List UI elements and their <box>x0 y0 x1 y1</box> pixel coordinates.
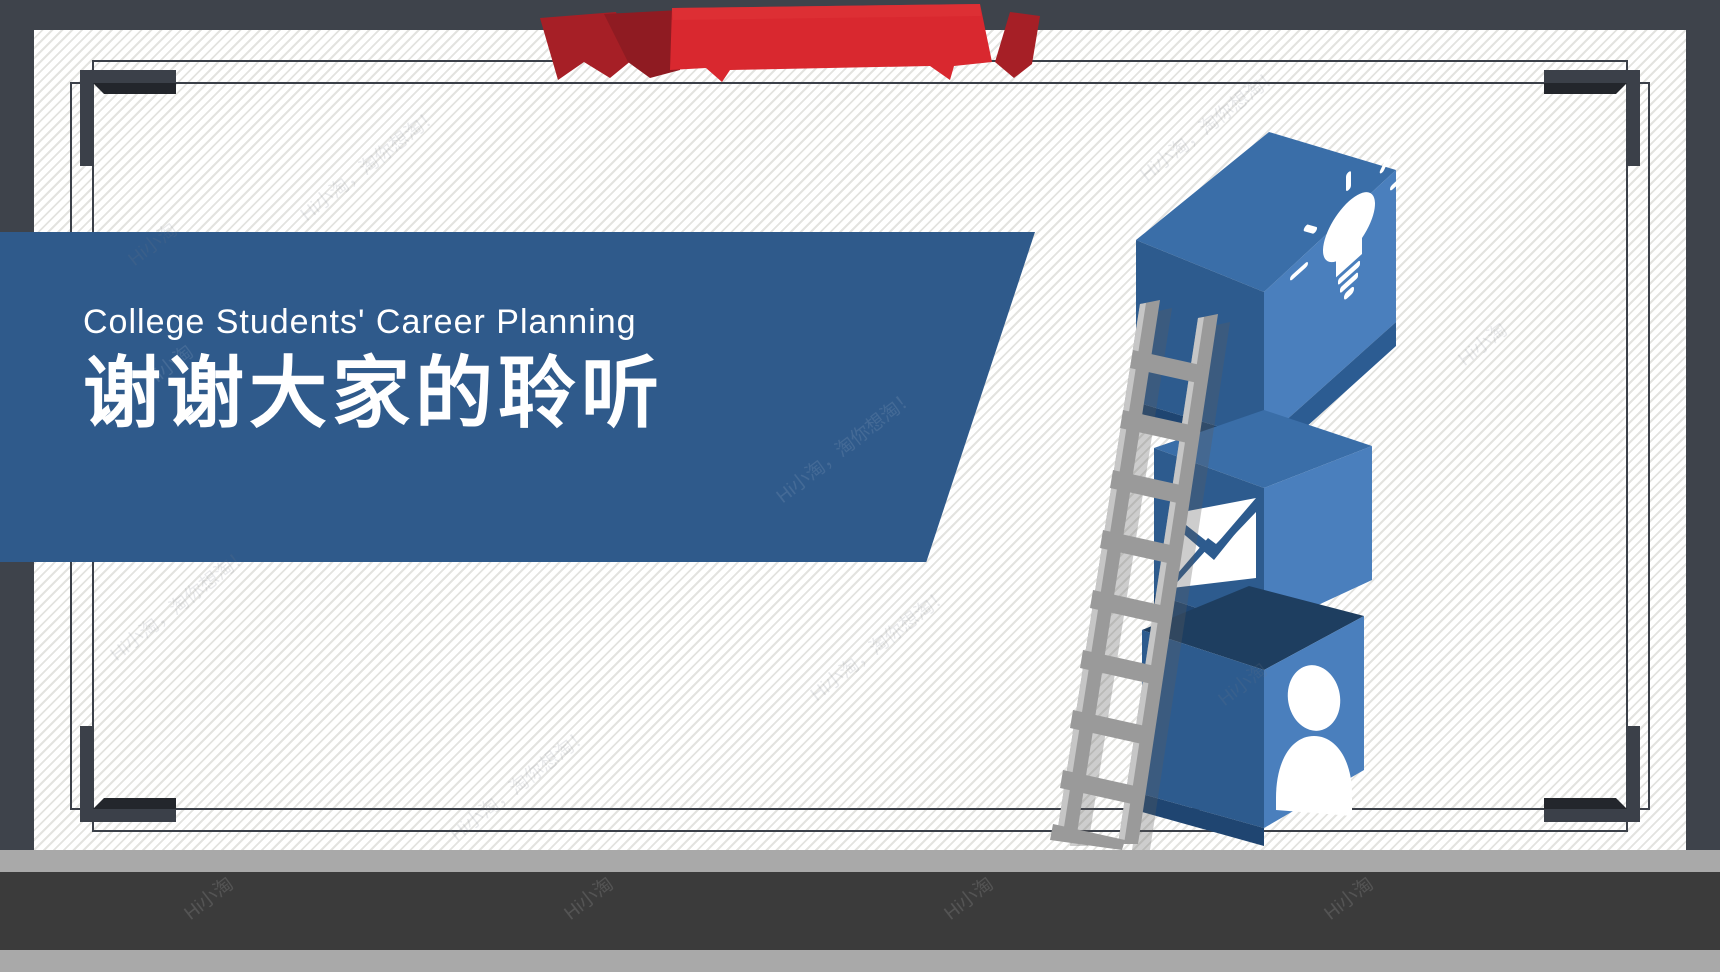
presentation-slide: Hi小淘 Hi小淘，淘你想淘！ Hi小淘，淘你想淘！ Hi小淘 Hi小淘，淘你想… <box>0 0 1720 972</box>
watermark: Hi小淘，淘你想淘！ <box>770 383 921 509</box>
corner-bracket-bottom-left <box>80 726 176 822</box>
corner-bracket-bottom-right <box>1544 726 1640 822</box>
watermark: Hi小淘，淘你想淘！ <box>804 581 955 707</box>
bottom-gutter: Hi小淘 Hi小淘 Hi小淘 Hi小淘 <box>0 850 1720 972</box>
bottom-dark-strip <box>0 872 1720 950</box>
corner-bracket-top-left <box>80 70 176 166</box>
watermark: Hi小淘，淘你想淘！ <box>444 721 595 847</box>
title-block: College Students' Career Planning 谢谢大家的聆… <box>83 302 664 440</box>
ribbon-tail-right <box>995 12 1040 78</box>
cube-stack-illustration <box>964 110 1484 850</box>
watermark: Hi小淘，淘你想淘！ <box>294 101 445 227</box>
title-banner: College Students' Career Planning 谢谢大家的聆… <box>0 232 1035 562</box>
ribbon-banner <box>540 0 1040 82</box>
title-main-chinese: 谢谢大家的聆听 <box>83 347 664 441</box>
title-subtitle-english: College Students' Career Planning <box>83 302 664 343</box>
corner-bracket-top-right <box>1544 70 1640 166</box>
